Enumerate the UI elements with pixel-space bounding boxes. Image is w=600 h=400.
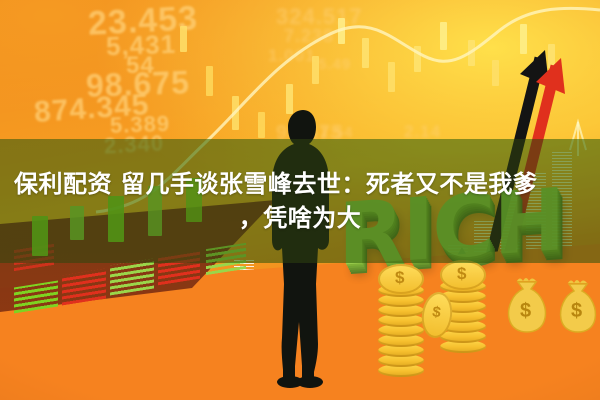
money-bag: $ [556, 274, 600, 334]
headline-text: 保利配资 留几手谈张雪峰去世：死者又不是我爹 ，凭啥为大 [0, 139, 600, 263]
headline-line-1: 保利配资 留几手谈张雪峰去世：死者又不是我爹 [14, 167, 586, 201]
dollar-sign: $ [457, 264, 466, 284]
money-bag: $ [504, 272, 550, 334]
headline-line-2: ，凭啥为大 [14, 201, 586, 235]
dollar-sign: $ [571, 300, 582, 323]
dollar-sign: $ [395, 268, 404, 288]
banner-image: 23.453 5,431 54 98.675 874.345 5.389 2.3… [0, 0, 600, 400]
dollar-sign: $ [520, 300, 531, 323]
dollar-sign: $ [431, 303, 442, 321]
